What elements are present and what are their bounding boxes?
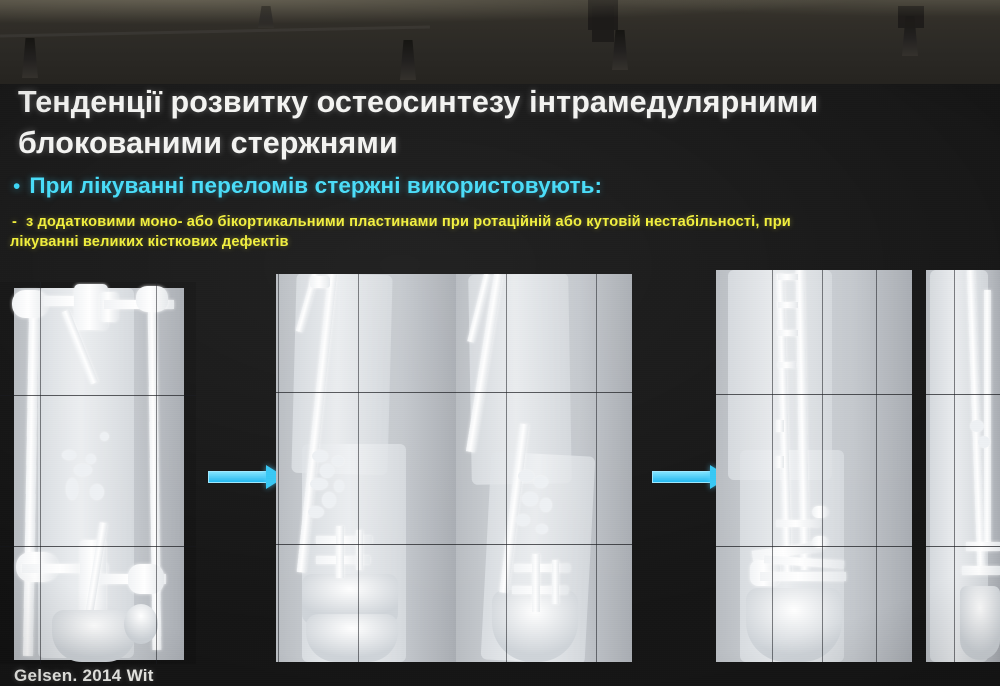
subbullet-dash-icon: - [12,214,17,230]
ceiling-fixture [898,6,924,28]
xray-panel-3 [456,274,632,662]
slide-title-line-1: Тенденції розвитку остеосинтезу інтрамед… [18,84,968,123]
slide-subbullet-line-1: -з додатковими моно- або бікортикальними… [12,211,1000,235]
slide-bullet-text: При лікуванні переломів стержні використ… [29,173,602,199]
ceiling-light-icon [400,40,416,80]
xray-panel-4 [716,270,912,662]
ceiling-fixture [592,6,614,42]
slide-subbullet-line-2: лікуванні великих кісткових дефектів [10,234,289,250]
ceiling-area [0,0,1000,84]
projected-slide-photo: Тенденції розвитку остеосинтезу інтрамед… [0,0,1000,686]
ceiling-light-icon [902,16,918,56]
xray-panel-1 [0,282,196,664]
arrow-1-right-icon [208,465,286,489]
slide-footer-text: Gelsen. 2014 Wit [14,666,154,686]
ceiling-light-icon [612,30,628,70]
slide-title-line-2: блокованими стержнями [18,123,968,164]
xray-panel-2 [276,274,456,662]
subbullet-text-1: з додатковими моно- або бікортикальними … [26,214,791,230]
ceiling-fixture [588,0,618,30]
bullet-dot-icon: • [13,176,20,197]
xray-panel-5 [926,270,1000,662]
ceiling-rail [0,25,430,37]
ceiling-light-icon [22,38,38,78]
slide-surface: Тенденції розвитку остеосинтезу інтрамед… [0,84,1000,686]
slide-title: Тенденції розвитку остеосинтезу інтрамед… [18,84,968,163]
slide-bullet: • При лікуванні переломів стержні викори… [13,173,973,199]
ceiling-light-icon [258,6,274,28]
